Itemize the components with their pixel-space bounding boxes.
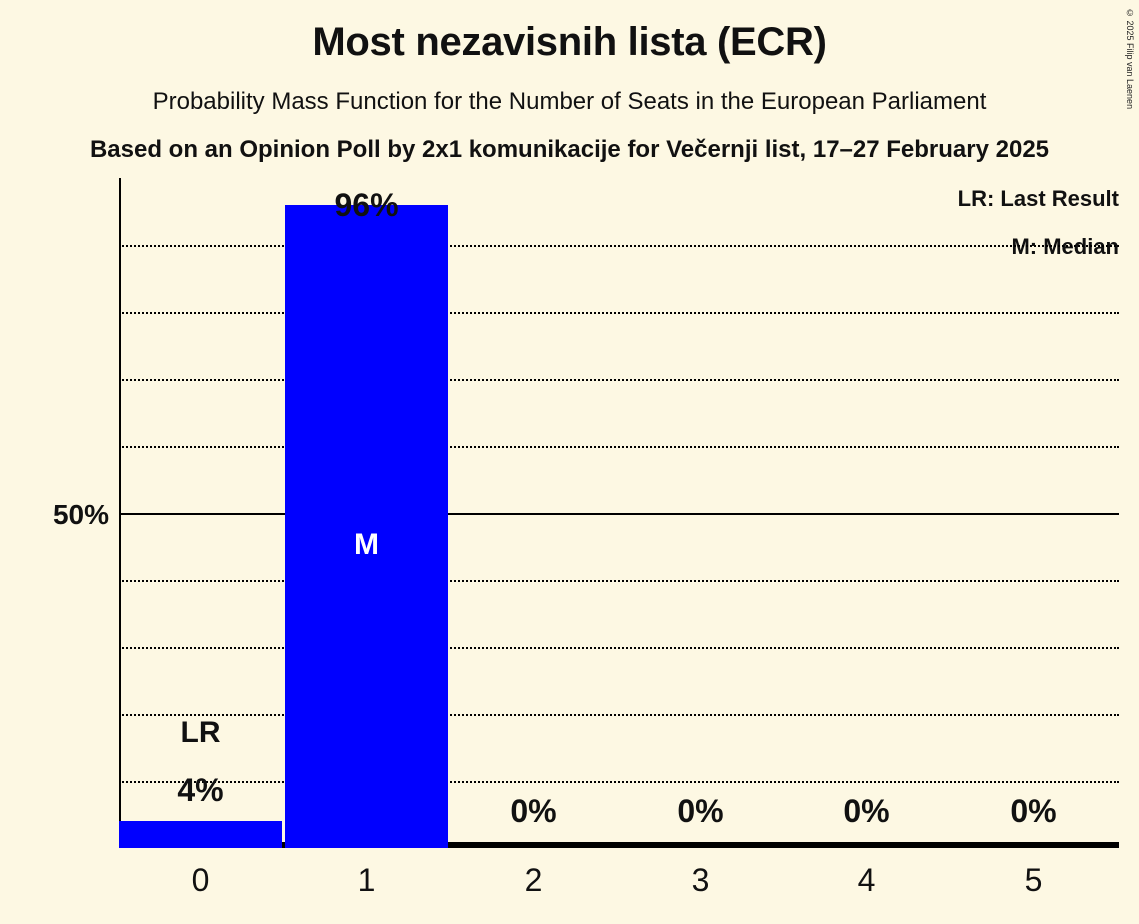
bar-value-0: 4% bbox=[119, 772, 282, 809]
x-tick-label-1: 1 bbox=[285, 862, 448, 899]
gridline-60 bbox=[119, 446, 1119, 448]
gridline-80 bbox=[119, 312, 1119, 314]
gridline-90 bbox=[119, 245, 1119, 247]
chart-container: Most nezavisnih lista (ECR) Probability … bbox=[0, 0, 1139, 924]
gridline-50 bbox=[119, 513, 1119, 515]
bar-value-1: 96% bbox=[285, 187, 448, 224]
last-result-marker: LR bbox=[119, 716, 282, 750]
gridline-40 bbox=[119, 580, 1119, 582]
chart-subtitle: Probability Mass Function for the Number… bbox=[0, 88, 1139, 116]
x-tick-label-4: 4 bbox=[785, 862, 948, 899]
bar-0 bbox=[119, 821, 282, 848]
gridline-70 bbox=[119, 379, 1119, 381]
x-tick-label-3: 3 bbox=[619, 862, 782, 899]
bar-value-4: 0% bbox=[785, 793, 948, 830]
chart-source-line: Based on an Opinion Poll by 2x1 komunika… bbox=[0, 136, 1139, 164]
copyright-notice: © 2025 Filip van Laenen bbox=[1123, 8, 1135, 109]
median-marker: M bbox=[285, 528, 448, 562]
x-tick-label-2: 2 bbox=[452, 862, 615, 899]
x-tick-label-0: 0 bbox=[119, 862, 282, 899]
bar-1 bbox=[285, 205, 448, 848]
bar-value-2: 0% bbox=[452, 793, 615, 830]
bar-value-5: 0% bbox=[952, 793, 1115, 830]
page-title: Most nezavisnih lista (ECR) bbox=[0, 20, 1139, 65]
bar-value-3: 0% bbox=[619, 793, 782, 830]
y-tick-label-50: 50% bbox=[53, 499, 109, 531]
x-tick-label-5: 5 bbox=[952, 862, 1115, 899]
gridline-30 bbox=[119, 647, 1119, 649]
